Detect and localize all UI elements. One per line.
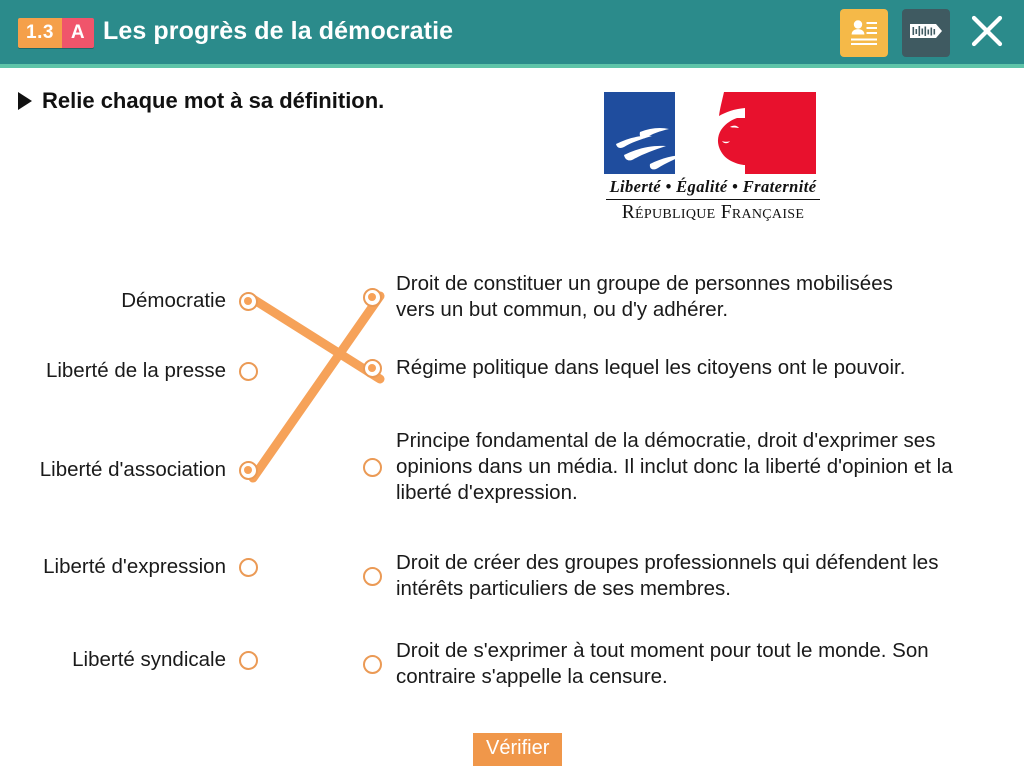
app-header: 1.3 A Les progrès de la démocratie	[0, 0, 1024, 68]
term-connector-dot-2[interactable]	[239, 362, 258, 381]
term-item-2[interactable]: Liberté de la presse	[8, 358, 258, 384]
connector-line	[253, 299, 380, 379]
term-item-4[interactable]: Liberté d'expression	[8, 554, 258, 580]
term-label: Démocratie	[121, 288, 226, 314]
term-item-1[interactable]: Démocratie	[8, 288, 258, 314]
definition-connector-dot-3[interactable]	[363, 458, 382, 477]
definition-connector-dot-1[interactable]	[363, 288, 382, 307]
republique-francaise-logo: Liberté • Égalité • Fraternité Républiqu…	[604, 92, 822, 224]
instruction-text: Relie chaque mot à sa définition.	[42, 88, 384, 114]
page-title: Les progrès de la démocratie	[103, 17, 453, 46]
term-connector-dot-4[interactable]	[239, 558, 258, 577]
definition-connector-dot-5[interactable]	[363, 655, 382, 674]
lesson-badge: 1.3 A	[18, 18, 94, 48]
term-connector-dot-1[interactable]	[239, 292, 258, 311]
term-label: Liberté d'association	[40, 457, 226, 483]
instruction-line: Relie chaque mot à sa définition.	[18, 88, 384, 114]
logo-devise: Liberté • Égalité • Fraternité	[604, 174, 822, 197]
term-item-3[interactable]: Liberté d'association	[8, 457, 258, 483]
verify-button[interactable]: Vérifier	[473, 733, 562, 766]
id-card-button[interactable]	[840, 9, 888, 57]
marianne-flag-icon	[604, 92, 816, 174]
definition-item-2[interactable]: Régime politique dans lequel les citoyen…	[363, 355, 1003, 381]
definition-item-1[interactable]: Droit de constituer un groupe de personn…	[363, 271, 1003, 323]
header-actions	[840, 9, 1010, 57]
close-button[interactable]	[964, 9, 1010, 57]
badge-letter: A	[62, 18, 94, 48]
definition-item-3[interactable]: Principe fondamental de la démocratie, d…	[363, 428, 1003, 507]
triangle-right-icon	[18, 92, 32, 110]
definition-label: Droit de créer des groupes professionnel…	[396, 550, 956, 602]
definition-label: Régime politique dans lequel les citoyen…	[396, 355, 916, 381]
definition-label: Droit de constituer un groupe de personn…	[396, 271, 916, 323]
term-connector-dot-3[interactable]	[239, 461, 258, 480]
term-item-5[interactable]: Liberté syndicale	[8, 647, 258, 673]
term-label: Liberté de la presse	[46, 358, 226, 384]
term-label: Liberté d'expression	[43, 554, 226, 580]
matching-exercise: Démocratie Liberté de la presse Liberté …	[0, 250, 1024, 700]
close-icon	[969, 13, 1005, 54]
logo-divider	[606, 199, 820, 200]
connector-line	[253, 296, 380, 478]
definition-item-4[interactable]: Droit de créer des groupes professionnel…	[363, 550, 1003, 602]
audio-waveform-icon	[908, 18, 944, 49]
definition-connector-dot-2[interactable]	[363, 359, 382, 378]
term-label: Liberté syndicale	[72, 647, 226, 673]
definition-label: Droit de s'exprimer à tout moment pour t…	[396, 638, 986, 690]
definition-connector-dot-4[interactable]	[363, 567, 382, 586]
definition-item-5[interactable]: Droit de s'exprimer à tout moment pour t…	[363, 638, 1003, 690]
logo-republique: République Française	[604, 202, 822, 224]
definition-label: Principe fondamental de la démocratie, d…	[396, 428, 976, 507]
term-connector-dot-5[interactable]	[239, 651, 258, 670]
audio-button[interactable]	[902, 9, 950, 57]
badge-number: 1.3	[18, 18, 62, 48]
id-card-icon	[847, 14, 881, 53]
